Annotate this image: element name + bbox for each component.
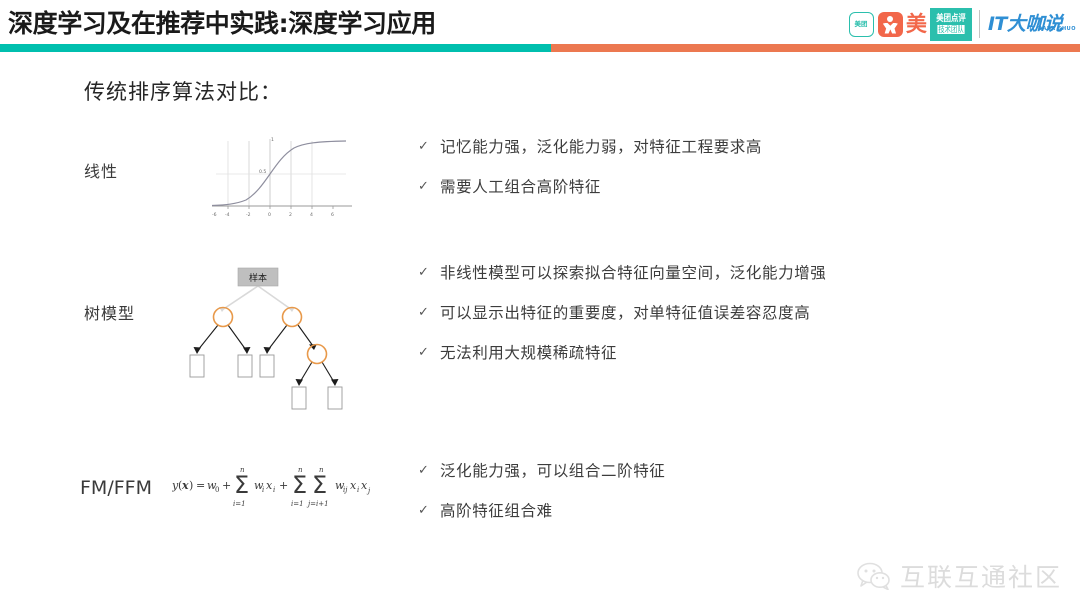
svg-text:样本: 样本: [249, 272, 267, 284]
header-logo-group: 美团 美 美团点评 技术团队 IT大咖说 IT DAKA SHUO: [849, 7, 1076, 41]
check-icon: ✓: [418, 342, 440, 364]
tech-logo-line2: 技术团队: [937, 25, 964, 34]
svg-text:i=1: i=1: [233, 500, 246, 508]
svg-text:i: i: [262, 486, 264, 494]
bullet-item: ✓ 需要人工组合高阶特征: [418, 176, 762, 198]
svg-text:0.5: 0.5: [259, 169, 266, 175]
check-icon: ✓: [418, 176, 440, 198]
check-icon: ✓: [418, 460, 440, 482]
tech-logo-line1: 美团点评: [936, 14, 966, 24]
svg-text:j=i+1: j=i+1: [306, 500, 329, 508]
svg-text:ij: ij: [343, 486, 348, 494]
row-label-fmffm: FM/FFM: [80, 477, 152, 499]
svg-text:-4: -4: [225, 212, 230, 218]
bullet-list-linear: ✓ 记忆能力强，泛化能力弱，对特征工程要求高 ✓ 需要人工组合高阶特征: [418, 136, 762, 216]
svg-text:6: 6: [331, 212, 334, 218]
svg-text:i=1: i=1: [291, 500, 304, 508]
svg-text:1: 1: [271, 137, 274, 143]
svg-text:4: 4: [310, 212, 313, 218]
svg-text:+: +: [279, 479, 288, 492]
svg-text:=: =: [196, 479, 205, 492]
bullet-list-fmffm: ✓ 泛化能力强，可以组合二阶特征 ✓ 高阶特征组合难: [418, 460, 665, 540]
bullet-item: ✓ 记忆能力强，泛化能力弱，对特征工程要求高: [418, 136, 762, 158]
bullet-item: ✓ 非线性模型可以探索拟合特征向量空间，泛化能力增强: [418, 262, 826, 284]
bullet-text: 高阶特征组合难: [440, 500, 553, 522]
check-icon: ✓: [418, 302, 440, 324]
person-head-shape: [887, 16, 893, 22]
bullet-item: ✓ 无法利用大规模稀疏特征: [418, 342, 826, 364]
svg-text:i: i: [273, 486, 275, 494]
person-body-shape: [883, 23, 898, 34]
bullet-item: ✓ 高阶特征组合难: [418, 500, 665, 522]
bullet-text: 需要人工组合高阶特征: [440, 176, 601, 198]
watermark: 互联互通社区: [856, 558, 1062, 594]
bullet-text: 无法利用大规模稀疏特征: [440, 342, 617, 364]
bullet-text: 可以显示出特征的重要度，对单特征值误差容忍度高: [440, 302, 810, 324]
svg-text:n: n: [240, 466, 245, 474]
fm-formula-figure: y ( x ) = w 0 + Σ n i=1 w i x i + Σ n i=…: [172, 462, 394, 510]
itdaka-sub-text: IT DAKA SHUO: [1029, 27, 1076, 32]
svg-text:x: x: [361, 479, 368, 492]
bullet-text: 记忆能力强，泛化能力弱，对特征工程要求高: [440, 136, 762, 158]
page-title: 深度学习及在推荐中实践:深度学习应用: [8, 4, 436, 40]
svg-text:x: x: [266, 479, 273, 492]
svg-text:x: x: [350, 479, 357, 492]
svg-text:i: i: [357, 486, 359, 494]
svg-text:2: 2: [289, 212, 292, 218]
logo-divider: [979, 10, 980, 38]
dianping-person-icon: [878, 12, 903, 37]
svg-text:-2: -2: [246, 212, 251, 218]
row-label-linear: 线性: [84, 158, 118, 182]
mei-character-logo: 美: [906, 14, 927, 35]
svg-text:0: 0: [268, 212, 271, 218]
row-label-tree: 树模型: [84, 300, 135, 324]
watermark-text: 互联互通社区: [900, 558, 1062, 594]
meituan-tech-team-logo: 美团点评 技术团队: [930, 8, 972, 41]
bullet-text: 泛化能力强，可以组合二阶特征: [440, 460, 665, 482]
svg-text:Σ: Σ: [312, 471, 327, 499]
check-icon: ✓: [418, 136, 440, 158]
svg-text:Σ: Σ: [292, 471, 307, 499]
svg-text:0: 0: [215, 486, 219, 494]
svg-text:-6: -6: [212, 212, 217, 218]
bullet-list-tree: ✓ 非线性模型可以探索拟合特征向量空间，泛化能力增强 ✓ 可以显示出特征的重要度…: [418, 262, 826, 382]
svg-text:n: n: [298, 466, 303, 474]
svg-text:n: n: [319, 466, 324, 474]
meituan-box-label: 美团: [855, 21, 868, 27]
bullet-item: ✓ 可以显示出特征的重要度，对单特征值误差容忍度高: [418, 302, 826, 324]
svg-text:): ): [189, 479, 193, 492]
svg-text:+: +: [222, 479, 231, 492]
bullet-text: 非线性模型可以探索拟合特征向量空间，泛化能力增强: [440, 262, 826, 284]
meituan-box-icon: 美团: [849, 12, 874, 37]
check-icon: ✓: [418, 262, 440, 284]
header-rule: [0, 44, 1080, 52]
header-rule-orange-segment: [551, 44, 1080, 52]
slide-heading: 传统排序算法对比：: [84, 76, 282, 106]
bullet-item: ✓ 泛化能力强，可以组合二阶特征: [418, 460, 665, 482]
itdaka-logo: IT大咖说 IT DAKA SHUO: [988, 15, 1076, 34]
check-icon: ✓: [418, 500, 440, 522]
svg-text:Σ: Σ: [234, 471, 249, 499]
svg-text:x: x: [181, 479, 189, 492]
wechat-bubble-icon: [856, 562, 890, 590]
decision-tree-figure: 样本: [180, 262, 348, 414]
header-rule-teal-segment: [0, 44, 551, 52]
sigmoid-curve-figure: -6 -4 -2 0 2 4 6 1 0.5: [206, 136, 358, 222]
